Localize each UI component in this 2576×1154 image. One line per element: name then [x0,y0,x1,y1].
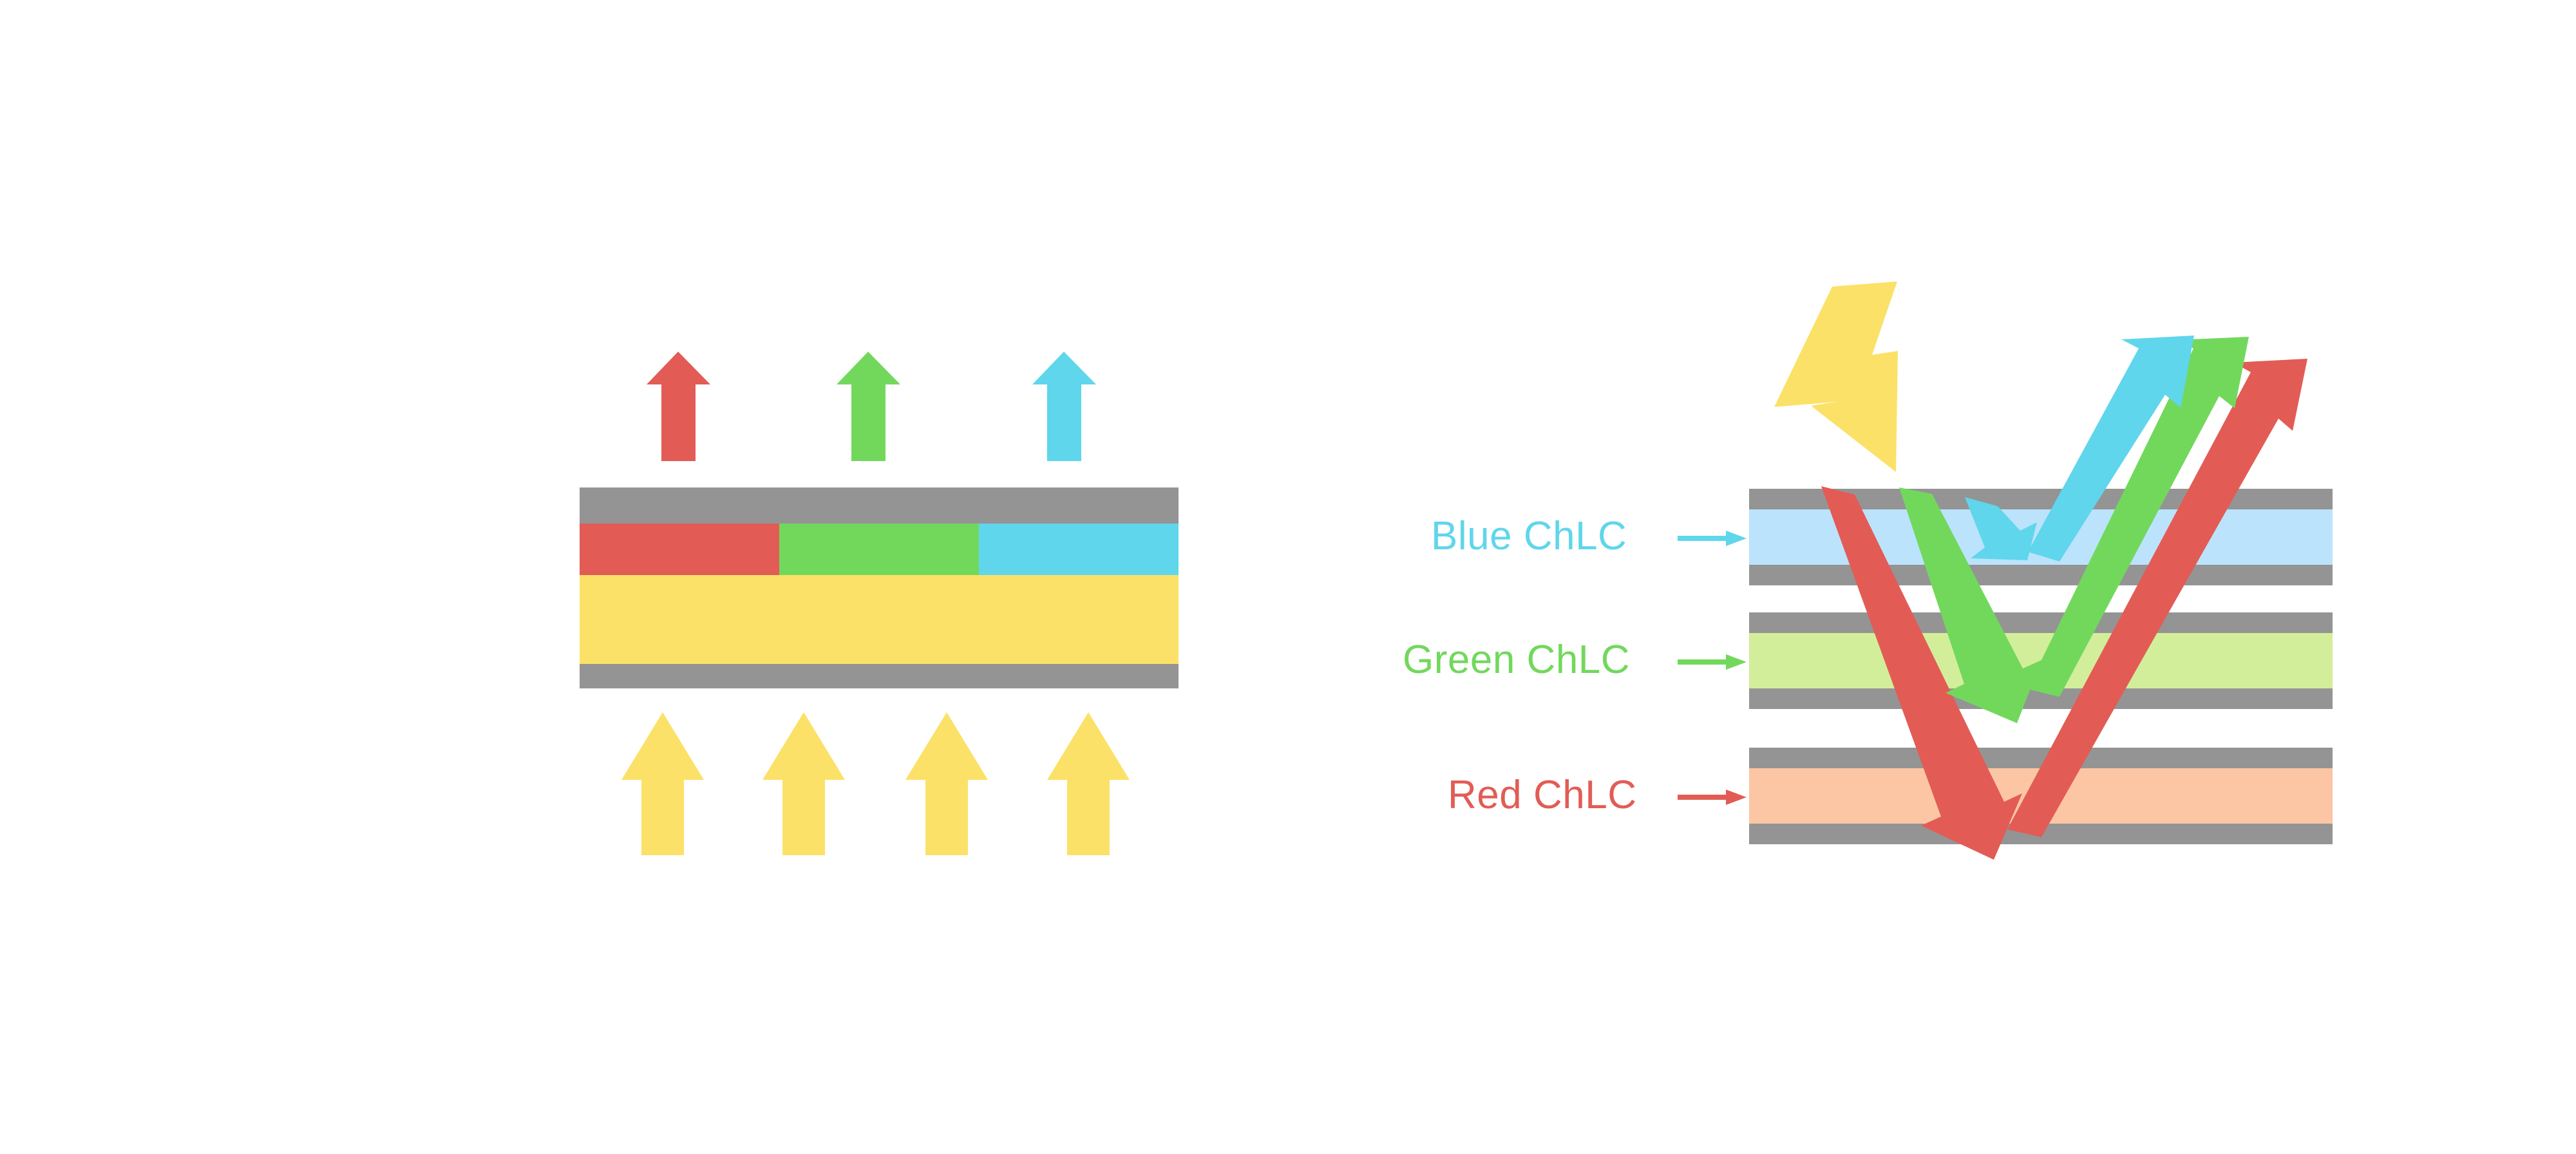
red-chlc-label-text: Red ChLC [1448,773,1636,817]
blue-cell-bottom-electrode [1749,565,2333,585]
chlc-display-diagram: Blue ChLC Green ChLC Red ChLC [0,0,2576,1154]
blue-chlc-label-text: Blue ChLC [1431,514,1627,558]
blue-filter-segment [979,524,1179,575]
top-substrate [580,487,1179,524]
bottom-substrate [580,664,1179,688]
left-device-stack [580,487,1179,688]
diagram-canvas: Blue ChLC Green ChLC Red ChLC [0,0,2576,1154]
backlight-layer [580,575,1179,664]
green-cell-top-electrode [1749,612,2333,633]
green-chlc-label-text: Green ChLC [1403,638,1630,682]
red-filter-segment [580,524,779,575]
green-filter-segment [779,524,979,575]
red-cell-top-electrode [1749,748,2333,768]
rgb-colour-filter-row [580,524,1179,575]
